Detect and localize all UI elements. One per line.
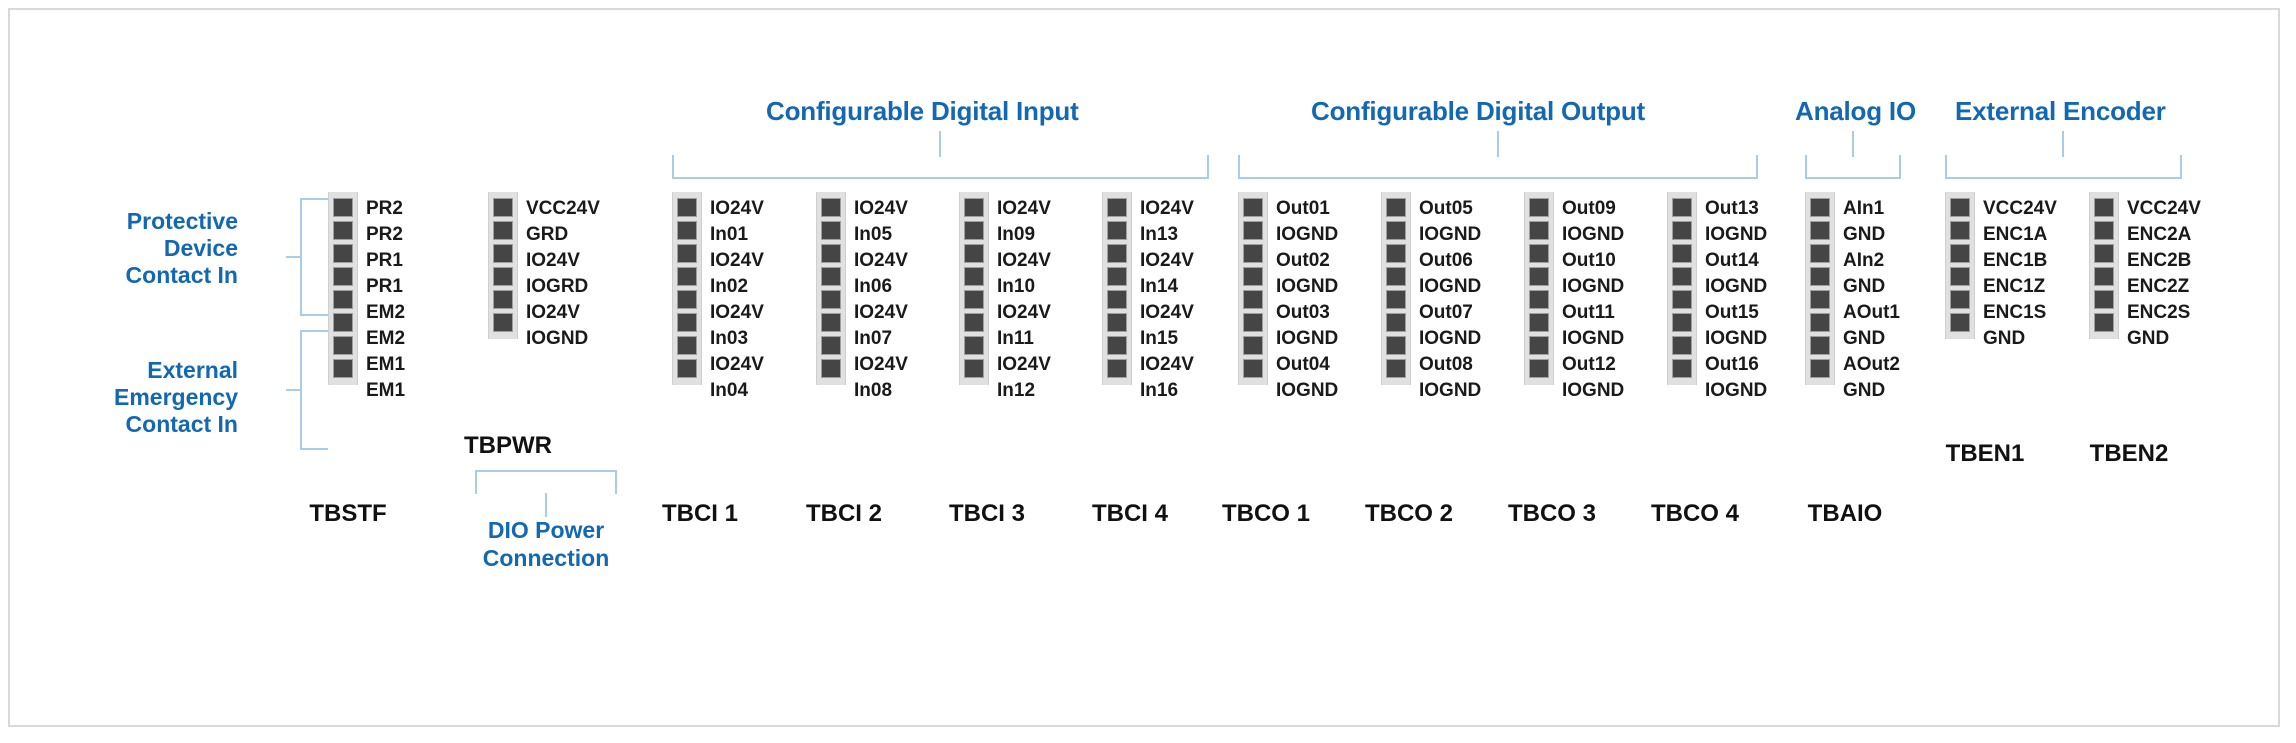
pin[interactable] — [821, 267, 841, 286]
pin-label: IO24V — [1140, 300, 1194, 326]
pin-label: IOGND — [1705, 378, 1767, 404]
caption-protective-line2: Device — [68, 235, 238, 262]
pin-labels-tbco-4: Out13 IOGND Out14 IOGND Out15 IOGND Out1… — [1705, 196, 1767, 404]
pin[interactable] — [1810, 198, 1830, 217]
pin-label: In06 — [854, 274, 908, 300]
connector-tbci-2[interactable] — [816, 192, 846, 385]
brace-stem-external-emergency — [286, 389, 302, 391]
brace-dio-power-connection — [475, 470, 617, 494]
diagram-canvas: Configurable Digital Input Configurable … — [0, 0, 2296, 743]
pin[interactable] — [333, 244, 353, 263]
pin-label: Out01 — [1276, 196, 1338, 222]
pin-label: AOut2 — [1843, 352, 1900, 378]
brace-stem-analog-io — [1852, 131, 1854, 157]
pin-label: IOGND — [1562, 326, 1624, 352]
pin-labels-tbco-3: Out09 IOGND Out10 IOGND Out11 IOGND Out1… — [1562, 196, 1624, 404]
pin[interactable] — [677, 221, 697, 240]
section-header-configurable-digital-input: Configurable Digital Input — [766, 96, 1079, 127]
pin-label: In13 — [1140, 222, 1194, 248]
pin[interactable] — [821, 313, 841, 332]
part-name-tbstf: TBSTF — [268, 500, 428, 528]
pin[interactable] — [1386, 198, 1406, 217]
pin[interactable] — [677, 290, 697, 309]
brace-configurable-digital-output — [1238, 155, 1758, 179]
pin-label: Out05 — [1419, 196, 1481, 222]
pin[interactable] — [821, 336, 841, 355]
pin[interactable] — [2094, 290, 2114, 309]
pin-label: Out12 — [1562, 352, 1624, 378]
part-name-tbco-4: TBCO 4 — [1615, 500, 1775, 528]
part-name-tbco-2: TBCO 2 — [1329, 500, 1489, 528]
caption-emergency-line2: Emergency — [58, 384, 238, 411]
pin-label: In01 — [710, 222, 764, 248]
caption-protective-line3: Contact In — [68, 262, 238, 289]
pin-label: Out04 — [1276, 352, 1338, 378]
brace-stem-external-encoder — [2062, 131, 2064, 157]
pin[interactable] — [821, 244, 841, 263]
pin-label: IO24V — [710, 352, 764, 378]
pin[interactable] — [821, 198, 841, 217]
pin[interactable] — [1386, 359, 1406, 378]
pin[interactable] — [493, 267, 513, 286]
pin[interactable] — [1386, 244, 1406, 263]
connector-tbco-2[interactable] — [1381, 192, 1411, 385]
pin-label: IO24V — [854, 196, 908, 222]
pin[interactable] — [1529, 359, 1549, 378]
pin-label: Out14 — [1705, 248, 1767, 274]
pin-label: EM2 — [366, 326, 405, 352]
caption-dio-power-connection: DIO Power Connection — [456, 516, 636, 572]
pin-label: Out10 — [1562, 248, 1624, 274]
pin[interactable] — [964, 267, 984, 286]
brace-configurable-digital-input — [672, 155, 1209, 179]
pin[interactable] — [1529, 336, 1549, 355]
pin[interactable] — [964, 198, 984, 217]
pin-label: GND — [1843, 378, 1900, 404]
caption-dio-power-line1: DIO Power — [456, 516, 636, 544]
pin[interactable] — [1810, 221, 1830, 240]
pin[interactable] — [1950, 244, 1970, 263]
pin[interactable] — [1243, 221, 1263, 240]
connector-tbpwr[interactable] — [488, 192, 518, 339]
pin-label: Out03 — [1276, 300, 1338, 326]
pin-label: IO24V — [854, 352, 908, 378]
pin-label: IO24V — [854, 248, 908, 274]
pin-label: AOut1 — [1843, 300, 1900, 326]
connector-tbci-4[interactable] — [1102, 192, 1132, 385]
pin-labels-tbaio: AIn1 GND AIn2 GND AOut1 GND AOut2 GND — [1843, 196, 1900, 404]
pin[interactable] — [1107, 244, 1127, 263]
pin-label: Out15 — [1705, 300, 1767, 326]
pin[interactable] — [2094, 244, 2114, 263]
pin-labels-tbci-1: IO24V In01 IO24V In02 IO24V In03 IO24V I… — [710, 196, 764, 404]
pin[interactable] — [964, 290, 984, 309]
pin[interactable] — [2094, 221, 2114, 240]
pin[interactable] — [1810, 290, 1830, 309]
pin[interactable] — [1950, 290, 1970, 309]
pin-labels-tben2: VCC24V ENC2A ENC2B ENC2Z ENC2S GND — [2127, 196, 2201, 352]
connector-tbco-1[interactable] — [1238, 192, 1268, 385]
pin-label: IOGND — [1562, 222, 1624, 248]
pin-label: IO24V — [710, 248, 764, 274]
pin-label: VCC24V — [1983, 196, 2057, 222]
pin-label: EM2 — [366, 300, 405, 326]
pin[interactable] — [964, 244, 984, 263]
pin-labels-tbpwr: VCC24V GRD IO24V IOGRD IO24V IOGND — [526, 196, 600, 352]
pin-label: In14 — [1140, 274, 1194, 300]
pin-label: IO24V — [854, 300, 908, 326]
pin-label: Out07 — [1419, 300, 1481, 326]
pin-label: IO24V — [997, 196, 1051, 222]
pin[interactable] — [1672, 290, 1692, 309]
pin[interactable] — [677, 313, 697, 332]
caption-emergency-line3: Contact In — [58, 411, 238, 438]
pin[interactable] — [333, 336, 353, 355]
pin-label: ENC2A — [2127, 222, 2201, 248]
pin-label: IO24V — [997, 248, 1051, 274]
pin[interactable] — [677, 244, 697, 263]
pin-label: In09 — [997, 222, 1051, 248]
pin-label: In03 — [710, 326, 764, 352]
part-name-tben1: TBEN1 — [1905, 440, 2065, 468]
pin[interactable] — [1672, 359, 1692, 378]
pin[interactable] — [1243, 244, 1263, 263]
pin-label: PR2 — [366, 196, 405, 222]
pin-label: IO24V — [1140, 352, 1194, 378]
brace-external-emergency — [300, 330, 328, 450]
pin[interactable] — [1810, 244, 1830, 263]
pin[interactable] — [1107, 198, 1127, 217]
caption-protective-line1: Protective — [68, 208, 238, 235]
pin[interactable] — [493, 313, 513, 332]
pin[interactable] — [1529, 198, 1549, 217]
caption-protective-device-contact-in: Protective Device Contact In — [68, 208, 238, 289]
pin[interactable] — [1107, 221, 1127, 240]
pin[interactable] — [821, 359, 841, 378]
pin-label: PR2 — [366, 222, 405, 248]
pin[interactable] — [493, 198, 513, 217]
pin-label: PR1 — [366, 274, 405, 300]
pin-label: ENC1A — [1983, 222, 2057, 248]
pin-label: In15 — [1140, 326, 1194, 352]
pin[interactable] — [1672, 313, 1692, 332]
pin-label: IOGND — [1419, 378, 1481, 404]
pin[interactable] — [1672, 267, 1692, 286]
part-name-tbaio: TBAIO — [1765, 500, 1925, 528]
pin[interactable] — [333, 267, 353, 286]
pin[interactable] — [677, 198, 697, 217]
pin[interactable] — [1672, 244, 1692, 263]
pin-label: In10 — [997, 274, 1051, 300]
pin-label: IOGRD — [526, 274, 600, 300]
brace-analog-io — [1805, 155, 1901, 179]
pin-label: GND — [1843, 222, 1900, 248]
pin-label: In08 — [854, 378, 908, 404]
pin-label: IOGND — [526, 326, 600, 352]
pin[interactable] — [1386, 313, 1406, 332]
pin[interactable] — [1810, 359, 1830, 378]
pin[interactable] — [333, 198, 353, 217]
pin-labels-tbco-1: Out01 IOGND Out02 IOGND Out03 IOGND Out0… — [1276, 196, 1338, 404]
pin[interactable] — [1243, 267, 1263, 286]
brace-stem-protective-device — [286, 256, 302, 258]
pin[interactable] — [821, 221, 841, 240]
pin-label: Out06 — [1419, 248, 1481, 274]
pin[interactable] — [1950, 313, 1970, 332]
pin-label: In04 — [710, 378, 764, 404]
pin[interactable] — [1672, 198, 1692, 217]
part-name-tbpwr: TBPWR — [418, 432, 598, 460]
pin-label: ENC1S — [1983, 300, 2057, 326]
pin[interactable] — [1529, 313, 1549, 332]
pin-label: ENC1B — [1983, 248, 2057, 274]
pin[interactable] — [1107, 290, 1127, 309]
pin[interactable] — [1243, 336, 1263, 355]
pin-label: Out02 — [1276, 248, 1338, 274]
pin[interactable] — [333, 359, 353, 378]
pin-label: EM1 — [366, 378, 405, 404]
pin[interactable] — [493, 244, 513, 263]
pin-label: GND — [2127, 326, 2201, 352]
pin-label: In07 — [854, 326, 908, 352]
section-header-external-encoder: External Encoder — [1955, 96, 2166, 127]
part-name-tbci-2: TBCI 2 — [764, 500, 924, 528]
pin[interactable] — [1243, 290, 1263, 309]
connector-tbco-3[interactable] — [1524, 192, 1554, 385]
pin-label: GRD — [526, 222, 600, 248]
part-name-tbco-3: TBCO 3 — [1472, 500, 1632, 528]
pin-label: Out09 — [1562, 196, 1624, 222]
connector-tbci-3[interactable] — [959, 192, 989, 385]
pin[interactable] — [1386, 336, 1406, 355]
pin[interactable] — [1386, 290, 1406, 309]
pin[interactable] — [1386, 221, 1406, 240]
pin-label: IOGND — [1419, 326, 1481, 352]
pin[interactable] — [1386, 267, 1406, 286]
pin-label: Out08 — [1419, 352, 1481, 378]
pin-label: IOGND — [1705, 274, 1767, 300]
pin[interactable] — [333, 221, 353, 240]
pin-label: IO24V — [710, 300, 764, 326]
pin[interactable] — [2094, 267, 2114, 286]
pin-label: IO24V — [997, 352, 1051, 378]
pin[interactable] — [1950, 198, 1970, 217]
pin-label: IOGND — [1562, 378, 1624, 404]
caption-emergency-line1: External — [58, 357, 238, 384]
pin[interactable] — [1950, 221, 1970, 240]
pin-label: EM1 — [366, 352, 405, 378]
pin-label: ENC2S — [2127, 300, 2201, 326]
pin-label: IOGND — [1276, 378, 1338, 404]
connector-tbstf[interactable] — [328, 192, 358, 385]
brace-protective-device — [300, 198, 328, 316]
pin[interactable] — [1529, 290, 1549, 309]
connector-tbci-1[interactable] — [672, 192, 702, 385]
part-name-tben2: TBEN2 — [2049, 440, 2209, 468]
part-name-tbco-1: TBCO 1 — [1186, 500, 1346, 528]
pin-label: IOGND — [1276, 222, 1338, 248]
pin-label: VCC24V — [2127, 196, 2201, 222]
pin-label: IO24V — [1140, 196, 1194, 222]
pin[interactable] — [1107, 359, 1127, 378]
brace-stem-configurable-digital-input — [939, 131, 941, 157]
pin[interactable] — [1529, 221, 1549, 240]
pin[interactable] — [493, 290, 513, 309]
pin-label: IO24V — [526, 248, 600, 274]
pin[interactable] — [964, 221, 984, 240]
pin-label: In11 — [997, 326, 1051, 352]
pin-labels-tbci-3: IO24V In09 IO24V In10 IO24V In11 IO24V I… — [997, 196, 1051, 404]
pin[interactable] — [2094, 198, 2114, 217]
pin[interactable] — [1672, 221, 1692, 240]
pin-label: IOGND — [1419, 222, 1481, 248]
part-name-tbci-3: TBCI 3 — [907, 500, 1067, 528]
pin[interactable] — [1243, 359, 1263, 378]
pin-label: In02 — [710, 274, 764, 300]
pin[interactable] — [333, 313, 353, 332]
pin[interactable] — [964, 336, 984, 355]
pin-label: IOGND — [1705, 326, 1767, 352]
pin-label: ENC2Z — [2127, 274, 2201, 300]
pin[interactable] — [1529, 267, 1549, 286]
pin[interactable] — [964, 359, 984, 378]
pin[interactable] — [1243, 198, 1263, 217]
pin-label: Out11 — [1562, 300, 1624, 326]
pin[interactable] — [1107, 336, 1127, 355]
brace-stem-configurable-digital-output — [1497, 131, 1499, 157]
pin-label: IOGND — [1276, 326, 1338, 352]
pin[interactable] — [1672, 336, 1692, 355]
pin-labels-tbstf: PR2 PR2 PR1 PR1 EM2 EM2 EM1 EM1 — [366, 196, 405, 404]
pin[interactable] — [677, 267, 697, 286]
pin[interactable] — [1529, 244, 1549, 263]
pin[interactable] — [493, 221, 513, 240]
connector-tben2[interactable] — [2089, 192, 2119, 339]
caption-external-emergency-contact-in: External Emergency Contact In — [58, 357, 238, 438]
pin[interactable] — [1810, 267, 1830, 286]
pin[interactable] — [1107, 313, 1127, 332]
pin-label: ENC2B — [2127, 248, 2201, 274]
pin-labels-tbco-2: Out05 IOGND Out06 IOGND Out07 IOGND Out0… — [1419, 196, 1481, 404]
section-header-analog-io: Analog IO — [1795, 96, 1916, 127]
pin-label: AIn2 — [1843, 248, 1900, 274]
pin-label: AIn1 — [1843, 196, 1900, 222]
pin-labels-tben1: VCC24V ENC1A ENC1B ENC1Z ENC1S GND — [1983, 196, 2057, 352]
pin-label: IO24V — [997, 300, 1051, 326]
pin-label: IOGND — [1276, 274, 1338, 300]
pin[interactable] — [1243, 313, 1263, 332]
pin[interactable] — [677, 336, 697, 355]
pin-label: IOGND — [1705, 222, 1767, 248]
brace-external-encoder — [1945, 155, 2182, 179]
pin-label: GND — [1843, 326, 1900, 352]
section-header-configurable-digital-output: Configurable Digital Output — [1311, 96, 1645, 127]
pin-label: GND — [1983, 326, 2057, 352]
pin-label: ENC1Z — [1983, 274, 2057, 300]
pin-label: GND — [1843, 274, 1900, 300]
pin[interactable] — [2094, 313, 2114, 332]
pin[interactable] — [1950, 267, 1970, 286]
pin[interactable] — [677, 359, 697, 378]
pin-label: VCC24V — [526, 196, 600, 222]
connector-tbaio[interactable] — [1805, 192, 1835, 385]
pin-label: In05 — [854, 222, 908, 248]
pin[interactable] — [1810, 336, 1830, 355]
pin[interactable] — [821, 290, 841, 309]
pin-label: IO24V — [1140, 248, 1194, 274]
pin-labels-tbci-2: IO24V In05 IO24V In06 IO24V In07 IO24V I… — [854, 196, 908, 404]
pin-label: PR1 — [366, 248, 405, 274]
pin[interactable] — [1107, 267, 1127, 286]
pin-label: IO24V — [526, 300, 600, 326]
pin-labels-tbci-4: IO24V In13 IO24V In14 IO24V In15 IO24V I… — [1140, 196, 1194, 404]
pin-label: Out13 — [1705, 196, 1767, 222]
brace-stem-dio-power-connection — [545, 493, 547, 517]
pin[interactable] — [333, 290, 353, 309]
pin[interactable] — [964, 313, 984, 332]
pin-label: Out16 — [1705, 352, 1767, 378]
pin-label: IOGND — [1419, 274, 1481, 300]
part-name-tbci-1: TBCI 1 — [620, 500, 780, 528]
caption-dio-power-line2: Connection — [456, 544, 636, 572]
pin-label: In12 — [997, 378, 1051, 404]
pin-label: In16 — [1140, 378, 1194, 404]
pin[interactable] — [1810, 313, 1830, 332]
connector-tben1[interactable] — [1945, 192, 1975, 339]
pin-label: IOGND — [1562, 274, 1624, 300]
pin-label: IO24V — [710, 196, 764, 222]
connector-tbco-4[interactable] — [1667, 192, 1697, 385]
